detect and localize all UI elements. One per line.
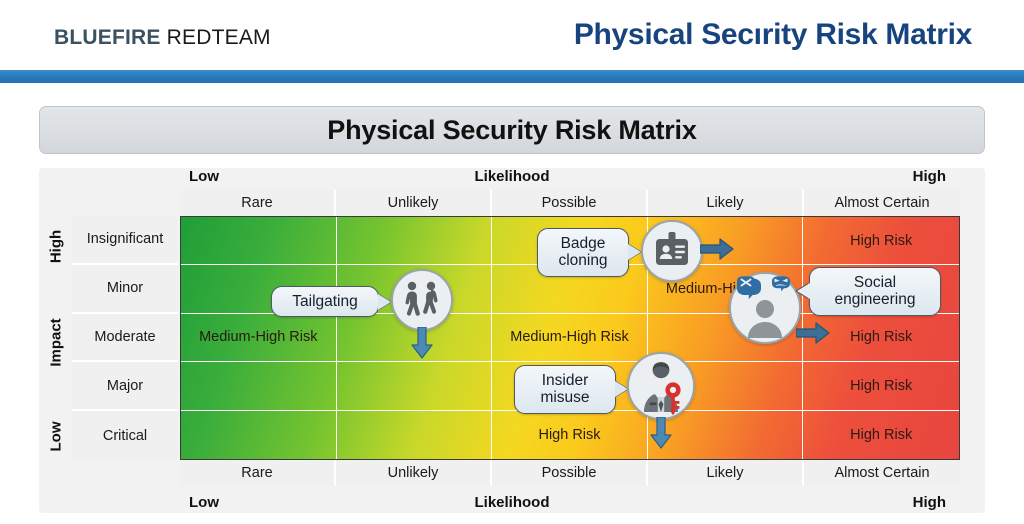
matrix-title-panel: Physical Security Risk Matrix <box>39 106 985 154</box>
cell-critical-unlikely[interactable] <box>337 411 493 459</box>
two-pedestrians-icon <box>391 269 453 331</box>
cell-insignificant-unlikely[interactable] <box>337 217 493 265</box>
row-header-insignificant: Insignificant <box>72 216 178 265</box>
column-headers-top: Rare Unlikely Possible Likely Almost Cer… <box>180 190 960 216</box>
slide-body: Physical Security Risk Matrix Low Likeli… <box>0 83 1024 524</box>
y-axis-name: Impact <box>48 318 65 366</box>
callout-social-engineering-bubble: Social engineering <box>809 267 941 316</box>
x-axis-name-top: Likelihood <box>39 168 985 185</box>
page-title: Physical Secırity Risk Matrix <box>574 18 972 52</box>
x-axis-high-top: High <box>913 168 946 185</box>
column-header-rare: Rare <box>180 190 336 216</box>
row-header-critical: Critical <box>72 411 178 460</box>
x-axis-name-bottom: Likelihood <box>39 494 985 511</box>
risk-matrix: Low Likelihood High Rare Unlikely Possib… <box>39 168 985 513</box>
social-people-icon <box>729 272 801 344</box>
column-footer-possible: Possible <box>492 460 648 486</box>
column-header-unlikely: Unlikely <box>336 190 492 216</box>
row-header-minor: Minor <box>72 265 178 314</box>
cell-moderate-rare[interactable]: Medium-High Risk <box>181 314 337 362</box>
x-axis-high-bottom: High <box>913 494 946 511</box>
cell-moderate-possible[interactable]: Medium-High Risk <box>492 314 648 362</box>
cell-major-rare[interactable] <box>181 362 337 410</box>
arrow-right-badge-cloning <box>700 238 734 260</box>
arrow-right-social-engineering <box>796 322 830 344</box>
arrow-down-insider-misuse <box>650 417 672 449</box>
y-axis-low: Low <box>48 422 65 452</box>
cell-major-almost-certain[interactable]: High Risk <box>803 362 959 410</box>
row-header-moderate: Moderate <box>72 314 178 363</box>
column-header-likely: Likely <box>648 190 804 216</box>
cell-critical-almost-certain[interactable]: High Risk <box>803 411 959 459</box>
header-accent-bar <box>0 70 1024 83</box>
social-people-glyph <box>733 276 797 340</box>
column-footer-almost-certain: Almost Certain <box>804 460 960 486</box>
column-header-almost-certain: Almost Certain <box>804 190 960 216</box>
column-footer-likely: Likely <box>648 460 804 486</box>
person-key-glyph <box>631 356 691 416</box>
column-headers-bottom: Rare Unlikely Possible Likely Almost Cer… <box>180 460 960 486</box>
person-key-icon <box>627 352 695 420</box>
cell-major-unlikely[interactable] <box>337 362 493 410</box>
brand-logo: BLUEFIRE REDTEAM <box>54 26 271 50</box>
matrix-title: Physical Security Risk Matrix <box>327 115 696 146</box>
id-badge-glyph <box>651 230 693 272</box>
row-header-major: Major <box>72 362 178 411</box>
two-pedestrians-glyph <box>399 280 445 320</box>
row-headers: Insignificant Minor Moderate Major Criti… <box>72 216 178 460</box>
column-header-possible: Possible <box>492 190 648 216</box>
page-header: BLUEFIRE REDTEAM Physical Secırity Risk … <box>0 0 1024 70</box>
id-badge-icon <box>641 220 703 282</box>
column-footer-rare: Rare <box>180 460 336 486</box>
cell-critical-rare[interactable] <box>181 411 337 459</box>
callout-tailgating-bubble: Tailgating <box>271 286 379 317</box>
cell-insignificant-almost-certain[interactable]: High Risk <box>803 217 959 265</box>
y-axis-high: High <box>48 230 65 263</box>
cell-insignificant-rare[interactable] <box>181 217 337 265</box>
callout-badge-cloning-bubble: Badge cloning <box>537 228 629 277</box>
y-axis: High Impact Low <box>43 216 69 460</box>
slide-page: BLUEFIRE REDTEAM Physical Secırity Risk … <box>0 0 1024 524</box>
callout-insider-misuse-bubble: Insider misuse <box>514 365 616 414</box>
brand-primary: BLUEFIRE <box>54 26 161 49</box>
column-footer-unlikely: Unlikely <box>336 460 492 486</box>
brand-secondary: REDTEAM <box>167 26 271 49</box>
arrow-down-tailgating <box>411 327 433 359</box>
cell-critical-possible[interactable]: High Risk <box>492 411 648 459</box>
